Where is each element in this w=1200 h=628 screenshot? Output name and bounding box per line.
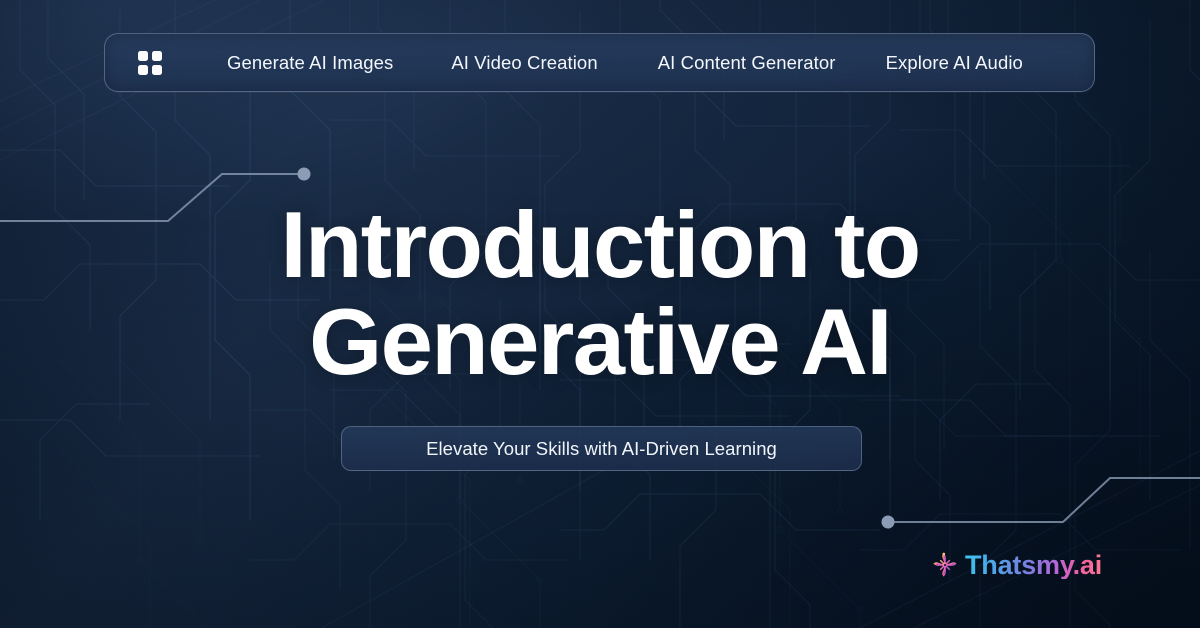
nav-item-ai-video-creation[interactable]: AI Video Creation [451, 52, 597, 74]
brand-logo-text: Thatsmy.ai [965, 551, 1102, 579]
nav-item-generate-ai-images[interactable]: Generate AI Images [227, 52, 393, 74]
page-title-line-1: Introduction to [0, 196, 1200, 293]
nav-item-explore-ai-audio[interactable]: Explore AI Audio [886, 52, 1023, 74]
grid-menu-icon[interactable] [138, 51, 162, 75]
primary-navbar: Generate AI Images AI Video Creation AI … [104, 33, 1095, 92]
brand-logo[interactable]: Thatsmy.ai [931, 548, 1102, 582]
hero-banner: Generate AI Images AI Video Creation AI … [0, 0, 1200, 628]
hero-content: Introduction to Generative AI [0, 196, 1200, 390]
page-title: Introduction to Generative AI [0, 196, 1200, 390]
four-petal-flower-icon [931, 551, 959, 579]
subtitle-text: Elevate Your Skills with AI-Driven Learn… [426, 438, 777, 460]
nav-item-ai-content-generator[interactable]: AI Content Generator [658, 52, 836, 74]
page-title-line-2: Generative AI [0, 293, 1200, 390]
subtitle-pill: Elevate Your Skills with AI-Driven Learn… [341, 426, 862, 471]
